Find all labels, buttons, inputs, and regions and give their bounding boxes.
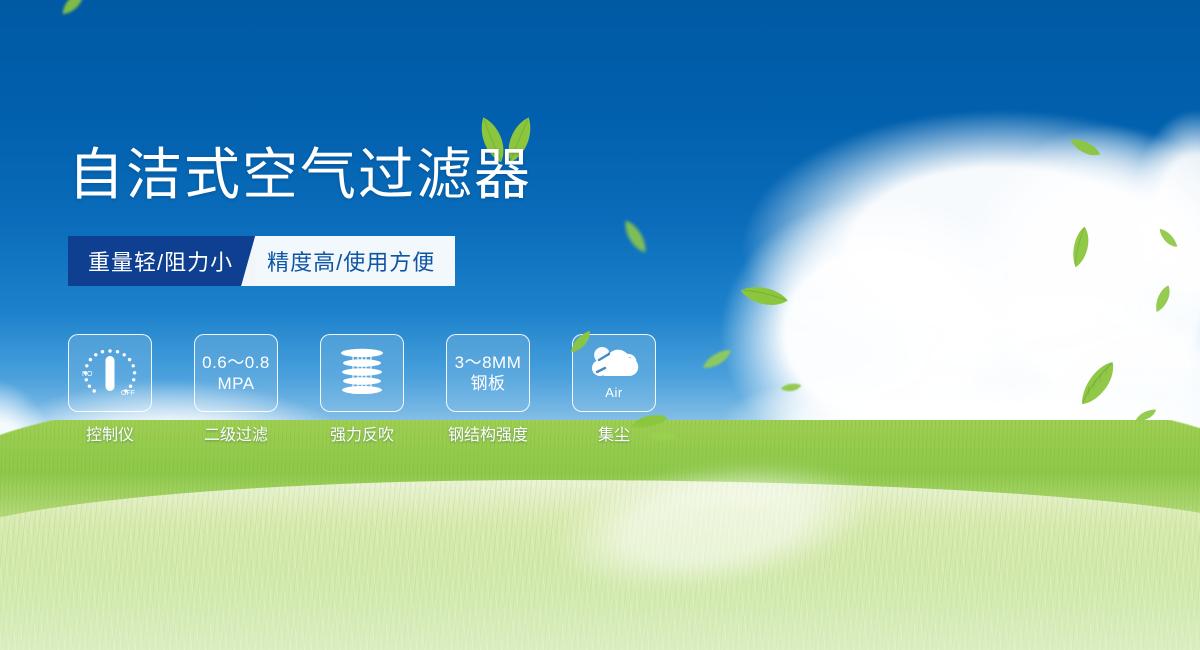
air-text: Air — [605, 385, 622, 400]
product-banner: 自洁式空气过滤器 重量轻/阻力小 精度高/使用方便 — [0, 0, 1200, 650]
feature-label: 集尘 — [598, 421, 630, 445]
feature-item-steel[interactable]: 3～8MM 钢板 钢结构强度 — [446, 334, 530, 445]
pressure-unit-text: MPA — [217, 373, 254, 394]
subtitle-bar: 重量轻/阻力小 精度高/使用方便 — [68, 236, 455, 286]
feature-label: 二级过滤 — [204, 421, 268, 445]
filter-cartridge-icon — [333, 345, 391, 401]
floating-leaf-icon — [56, 0, 90, 17]
gauge-off-label: OFF — [121, 390, 135, 397]
feature-icon-box — [320, 334, 404, 412]
feature-label: 强力反吹 — [330, 421, 394, 445]
feature-icon-box: 0.6～0.8 MPA — [194, 334, 278, 412]
cloud-air-icon — [585, 346, 643, 384]
feature-label: 钢结构强度 — [448, 421, 528, 445]
feature-icon-box: Air — [572, 334, 656, 412]
pressure-range-text: 0.6～0.8 — [202, 352, 270, 373]
grass-field — [0, 420, 1200, 650]
feature-item-blowback[interactable]: 强力反吹 — [320, 334, 404, 445]
subtitle-right-segment: 精度高/使用方便 — [241, 236, 455, 286]
feature-list: NO OFF 控制仪 0.6～0.8 MPA 二级过滤 — [68, 334, 656, 445]
feature-item-dust-collection[interactable]: Air 集尘 — [572, 334, 656, 445]
gauge-icon: NO OFF — [79, 345, 141, 401]
page-title: 自洁式空气过滤器 — [68, 143, 532, 207]
grass-light-sheen — [0, 530, 1200, 650]
subtitle-left-segment: 重量轻/阻力小 — [68, 236, 255, 286]
steel-thickness-text: 3～8MM — [455, 352, 522, 373]
steel-material-text: 钢板 — [471, 373, 506, 394]
feature-label: 控制仪 — [86, 421, 134, 445]
floating-leaf-icon — [622, 216, 649, 257]
feature-item-pressure[interactable]: 0.6～0.8 MPA 二级过滤 — [194, 334, 278, 445]
feature-icon-box: 3～8MM 钢板 — [446, 334, 530, 412]
feature-item-controller[interactable]: NO OFF 控制仪 — [68, 334, 152, 445]
feature-icon-box: NO OFF — [68, 334, 152, 412]
gauge-on-label: NO — [82, 371, 93, 378]
